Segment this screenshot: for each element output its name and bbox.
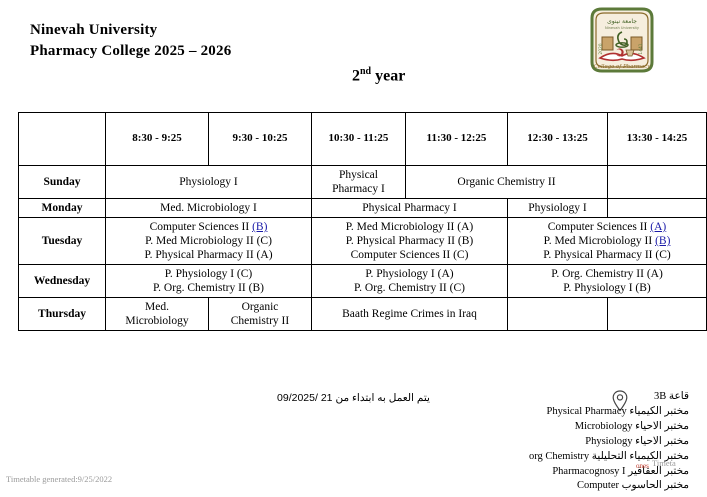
room-legend: قاعة 3Bمختبر الكيمياء Physical Pharmacyم… [489,390,689,494]
legend-item-arabic: مختبر الاحياء [633,421,689,432]
svg-text:2020: 2020 [598,43,604,54]
college-of-pharmacy-crest-logo: جامعة نينوى Ninevah University College o… [586,4,658,76]
legend-item-english: Pharmacognosy I [552,466,625,477]
timetable-cell-line: Organic [211,300,309,314]
timetable-row-thursday: ThursdayMed.MicrobiologyOrganicChemistry… [19,298,707,331]
day-label-thursday: Thursday [19,298,106,331]
day-label-sunday: Sunday [19,166,106,199]
timetable-cell: PhysicalPharmacy I [312,166,406,199]
legend-item-2: مختبر الكيمياء Physical Pharmacy [489,405,689,420]
timetable-cell-empty [508,298,608,331]
timetable-cell: Physical Pharmacy I [312,199,508,218]
weekly-timetable: 8:30 - 9:259:30 - 10:2510:30 - 11:2511:3… [18,112,707,331]
legend-item-english: Physical Pharmacy [547,406,627,417]
timetable-header-row: 8:30 - 9:259:30 - 10:2510:30 - 11:2511:3… [19,113,707,166]
timetable-cell: Physiology I [106,166,312,199]
legend-item-english: org Chemistry [529,451,589,462]
legend-item-english: Physiology [585,436,632,447]
time-slot-header-2: 9:30 - 10:25 [209,113,312,166]
timetable-cell: Baath Regime Crimes in Iraq [312,298,508,331]
timetable-row-sunday: SundayPhysiology IPhysicalPharmacy IOrga… [19,166,707,199]
timetable-cell-line: Microbiology [108,314,206,328]
timetable-cell-line: Computer Sciences II (C) [314,248,505,262]
timetable-cell-line: Computer Sciences II (A) [510,220,704,234]
timetable-body: SundayPhysiology IPhysicalPharmacy IOrga… [19,166,707,331]
timetable-cell-empty [608,166,707,199]
timetable-cell-line: Physical [314,168,403,182]
legend-item-7: مختبر الحاسوب Computer [489,479,689,494]
timetable-cell-line: P. Org. Chemistry II (A) [510,267,704,281]
college-and-academic-year: Pharmacy College 2025 – 2026 [30,43,231,60]
timetable-cell: Med. Microbiology I [106,199,312,218]
group-link[interactable]: (A) [650,221,666,233]
group-link[interactable]: (B) [655,235,670,247]
timetable-cell-line: P. Physiology I (B) [510,281,704,295]
legend-item-english: Computer [577,480,619,491]
timetable-cell-line: Med. [108,300,206,314]
timetable-cell-line: Physical Pharmacy I [314,201,505,215]
legend-item-1: قاعة 3B [489,390,689,405]
timetable-cell-line: P. Physiology I (C) [108,267,309,281]
legend-item-english: 3B [654,391,666,402]
svg-text:جامعة نينوى: جامعة نينوى [607,18,637,25]
timetable-cell: P. Org. Chemistry II (A)P. Physiology I … [508,265,707,298]
svg-text:Ninevah University: Ninevah University [605,26,640,30]
timetable-cell-line: Baath Regime Crimes in Iraq [314,307,505,321]
timetable-cell-line: P. Med Microbiology II (B) [510,234,704,248]
timetable-cell-line: Physiology I [510,201,605,215]
timetable-cell: Physiology I [508,199,608,218]
timetable-cell-line: Computer Sciences II (B) [108,220,309,234]
timetable-corner-cell [19,113,106,166]
timetable-row-monday: MondayMed. Microbiology IPhysical Pharma… [19,199,707,218]
timetable-cell-empty [608,199,707,218]
timetable-cell: P. Physiology I (C)P. Org. Chemistry II … [106,265,312,298]
group-link[interactable]: (B) [252,221,267,233]
timetable-row-tuesday: TuesdayComputer Sciences II (B)P. Med Mi… [19,218,707,265]
svg-text:College of Pharmacy: College of Pharmacy [594,64,652,70]
timetable-cell: Organic Chemistry II [406,166,608,199]
year-number: 2 [352,67,360,84]
svg-text:1441: 1441 [638,43,644,54]
watermark-red-mark: ones [636,462,649,470]
watermark-timetable-partial: Timeta [652,458,676,468]
page-header: Ninevah University Pharmacy College 2025… [0,0,707,110]
time-slot-header-3: 10:30 - 11:25 [312,113,406,166]
time-slot-header-4: 11:30 - 12:25 [406,113,508,166]
legend-item-3: مختبر الاحياء Microbiology [489,420,689,435]
day-label-tuesday: Tuesday [19,218,106,265]
time-slot-header-1: 8:30 - 9:25 [106,113,209,166]
timetable-cell-line: Chemistry II [211,314,309,328]
timetable-cell-line: P. Physical Pharmacy II (C) [510,248,704,262]
timetable-cell-line: Organic Chemistry II [408,175,605,189]
legend-item-arabic: مختبر الاحياء [633,436,689,447]
timetable-cell: Computer Sciences II (B)P. Med Microbiol… [106,218,312,265]
legend-item-arabic: قاعة [666,391,689,402]
timetable-cell-line: Med. Microbiology I [108,201,309,215]
timetable-cell-line: P. Physiology I (A) [314,267,505,281]
year-word: year [371,67,405,84]
timetable-cell: OrganicChemistry II [209,298,312,331]
timetable-cell-line: P. Org. Chemistry II (B) [108,281,309,295]
day-label-monday: Monday [19,199,106,218]
timetable-cell: Computer Sciences II (A)P. Med Microbiol… [508,218,707,265]
timetable-cell-line: Pharmacy I [314,182,403,196]
timetable-cell-line: P. Org. Chemistry II (C) [314,281,505,295]
time-slot-header-5: 12:30 - 13:25 [508,113,608,166]
timetable-cell-line: P. Med Microbiology II (A) [314,220,505,234]
timetable-cell-line: P. Med Microbiology II (C) [108,234,309,248]
timetable-cell-line: P. Physical Pharmacy II (A) [108,248,309,262]
legend-item-4: مختبر الاحياء Physiology [489,435,689,450]
timetable-cell-line: P. Physical Pharmacy II (B) [314,234,505,248]
timetable-cell: P. Med Microbiology II (A)P. Physical Ph… [312,218,508,265]
page-title: 2nd year [352,66,405,85]
timetable-cell-line: Physiology I [108,175,309,189]
year-ordinal-suffix: nd [360,66,371,77]
timetable-cell: P. Physiology I (A)P. Org. Chemistry II … [312,265,508,298]
watermark-generated-date: Timetable generated:9/25/2022 [6,474,112,484]
timetable-cell-empty [608,298,707,331]
legend-item-arabic: مختبر الحاسوب [619,480,689,491]
legend-item-arabic: مختبر الكيمياء [627,406,689,417]
legend-item-english: Microbiology [575,421,633,432]
time-slot-header-6: 13:30 - 14:25 [608,113,707,166]
university-name: Ninevah University [30,22,157,39]
timetable-row-wednesday: WednesdayP. Physiology I (C)P. Org. Chem… [19,265,707,298]
timetable-cell: Med.Microbiology [106,298,209,331]
day-label-wednesday: Wednesday [19,265,106,298]
